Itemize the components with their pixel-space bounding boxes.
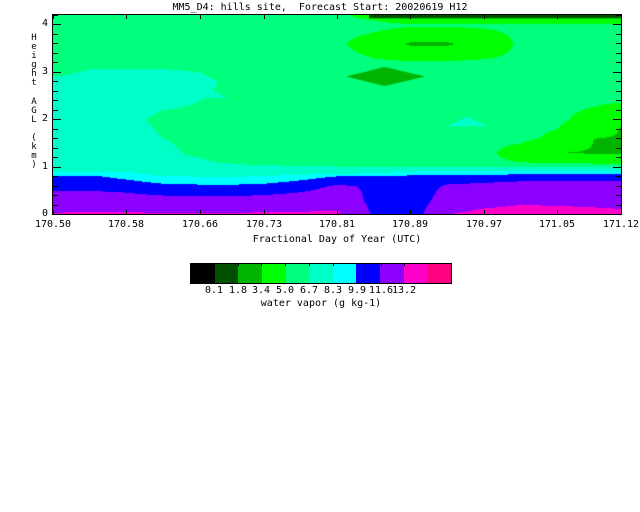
page-title: MM5_D4: hills site, Forecast Start: 2002… — [0, 2, 640, 13]
colorbar-tick — [285, 263, 286, 266]
y-tick-right — [616, 138, 621, 139]
colorbar-swatch-deep-pink — [427, 264, 451, 283]
y-tick-right — [616, 129, 621, 130]
x-tick-label: 170.66 — [170, 219, 230, 230]
water-vapor-contour-field — [53, 15, 621, 214]
x-tick-bottom — [264, 210, 265, 215]
x-tick-label: 171.05 — [527, 219, 587, 230]
x-tick-label: 170.89 — [380, 219, 440, 230]
y-tick-right — [613, 119, 621, 120]
colorbar-swatch-black — [191, 264, 215, 283]
y-tick-right — [616, 81, 621, 82]
colorbar-tick — [333, 263, 334, 266]
x-tick-bottom — [557, 210, 558, 215]
y-tick-right — [613, 24, 621, 25]
y-tick-right — [616, 34, 621, 35]
colorbar-tick-label: 13.2 — [384, 285, 424, 296]
colorbar-tick — [357, 263, 358, 266]
x-tick-bottom — [484, 210, 485, 215]
y-tick-right — [616, 53, 621, 54]
x-tick-top — [557, 14, 558, 19]
colorbar-swatches — [190, 263, 452, 284]
y-tick-right — [616, 43, 621, 44]
x-tick-top — [484, 14, 485, 19]
colorbar-swatch-spring-green — [286, 264, 310, 283]
x-tick-label: 170.97 — [454, 219, 514, 230]
y-tick-right — [613, 214, 621, 215]
y-tick-label: 4 — [34, 18, 48, 29]
y-tick-left — [53, 43, 58, 44]
y-tick-right — [616, 100, 621, 101]
x-tick-label: 171.12 — [591, 219, 640, 230]
x-tick-bottom — [337, 210, 338, 215]
y-tick-right — [616, 195, 621, 196]
y-tick-left — [53, 100, 58, 101]
y-tick-right — [616, 15, 621, 16]
y-tick-left — [53, 176, 58, 177]
y-tick-left — [53, 81, 58, 82]
colorbar-tick — [261, 263, 262, 266]
y-tick-left — [53, 138, 58, 139]
colorbar-swatch-green — [238, 264, 262, 283]
contour-plot-area — [52, 14, 622, 215]
colorbar-swatch-aquamarine — [309, 264, 333, 283]
x-tick-bottom — [126, 210, 127, 215]
y-tick-left — [53, 195, 58, 196]
y-tick-right — [616, 157, 621, 158]
colorbar-swatch-violet — [380, 264, 404, 283]
y-tick-left — [53, 34, 58, 35]
colorbar-swatch-bright-green — [262, 264, 286, 283]
x-tick-top — [200, 14, 201, 19]
colorbar-swatch-blue — [356, 264, 380, 283]
colorbar-tick — [309, 263, 310, 266]
x-tick-bottom — [410, 210, 411, 215]
y-tick-left — [53, 62, 58, 63]
y-tick-left — [53, 157, 58, 158]
y-tick-left — [53, 110, 58, 111]
y-tick-label: 0 — [34, 208, 48, 219]
y-tick-left — [53, 15, 58, 16]
y-tick-right — [613, 167, 621, 168]
x-axis-title: Fractional Day of Year (UTC) — [52, 234, 622, 245]
x-tick-bottom — [621, 210, 622, 215]
y-tick-right — [616, 62, 621, 63]
y-tick-left — [53, 129, 58, 130]
y-tick-left — [53, 148, 58, 149]
x-tick-label: 170.50 — [23, 219, 83, 230]
y-tick-right — [613, 72, 621, 73]
colorbar-tick — [214, 263, 215, 266]
colorbar-swatch-cyan — [333, 264, 357, 283]
y-tick-right — [616, 205, 621, 206]
colorbar: 0.11.83.45.06.78.39.911.613.2 — [190, 263, 452, 284]
colorbar-tick — [381, 263, 382, 266]
y-tick-left — [53, 72, 61, 73]
colorbar-caption: water vapor (g kg-1) — [190, 298, 452, 309]
y-tick-right — [616, 148, 621, 149]
y-tick-right — [616, 176, 621, 177]
x-tick-top — [621, 14, 622, 19]
y-tick-right — [616, 186, 621, 187]
x-tick-label: 170.73 — [234, 219, 294, 230]
y-axis-title-char: ) — [28, 161, 40, 170]
x-tick-label: 170.81 — [307, 219, 367, 230]
x-tick-top — [410, 14, 411, 19]
y-tick-left — [53, 53, 58, 54]
y-tick-right — [616, 110, 621, 111]
y-tick-right — [616, 91, 621, 92]
y-tick-left — [53, 119, 61, 120]
y-tick-left — [53, 186, 58, 187]
y-tick-left — [53, 214, 61, 215]
x-tick-bottom — [200, 210, 201, 215]
y-tick-left — [53, 167, 61, 168]
colorbar-swatch-magenta — [404, 264, 428, 283]
x-tick-top — [337, 14, 338, 19]
y-tick-left — [53, 91, 58, 92]
y-axis-title: Height AGL (km) — [28, 34, 40, 170]
colorbar-tick — [238, 263, 239, 266]
x-tick-top — [264, 14, 265, 19]
y-tick-left — [53, 205, 58, 206]
x-tick-top — [126, 14, 127, 19]
colorbar-swatch-dark-green — [215, 264, 239, 283]
y-tick-left — [53, 24, 61, 25]
plot-window: MM5_D4: hills site, Forecast Start: 2002… — [0, 0, 640, 512]
x-tick-label: 170.58 — [96, 219, 156, 230]
colorbar-tick — [404, 263, 405, 266]
